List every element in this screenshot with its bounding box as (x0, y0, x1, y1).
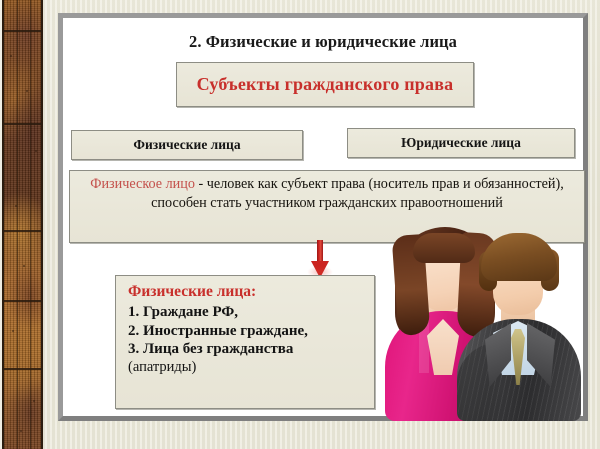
content-panel: 2. Физические и юридические лица Субъект… (58, 13, 588, 421)
definition-paragraph: Физическое лицо - человек как субъект пр… (82, 175, 572, 212)
category-box-legal-entities: Юридические лица (347, 128, 575, 158)
definition-term: Физическое лицо (90, 176, 195, 192)
category-box-natural-persons: Физические лица (71, 130, 303, 160)
category-label-legal-entities: Юридические лица (401, 135, 521, 151)
definition-body: - человек как субъект права (носитель пр… (151, 176, 564, 211)
slide: 2. Физические и юридические лица Субъект… (0, 0, 600, 449)
decorative-edge-strip (2, 0, 43, 449)
page-title: 2. Физические и юридические лица (63, 32, 583, 52)
list-item: 2. Иностранные граждане, (128, 322, 364, 341)
list-tail-label: (апатриды) (128, 359, 364, 377)
list-lead-label: Физические лица: (128, 283, 364, 302)
down-arrow-icon (311, 240, 329, 278)
category-label-natural-persons: Физические лица (133, 137, 240, 153)
natural-persons-list: 1. Граждане РФ, 2. Иностранные граждане,… (128, 303, 364, 359)
list-item: 1. Граждане РФ, (128, 303, 364, 322)
subject-heading-box: Субъекты гражданского права (176, 62, 474, 107)
natural-persons-list-box: Физические лица: 1. Граждане РФ, 2. Инос… (115, 275, 375, 409)
subject-heading-label: Субъекты гражданского права (197, 74, 454, 95)
two-people-illustration (381, 223, 581, 421)
list-item: 3. Лица без гражданства (128, 340, 364, 359)
